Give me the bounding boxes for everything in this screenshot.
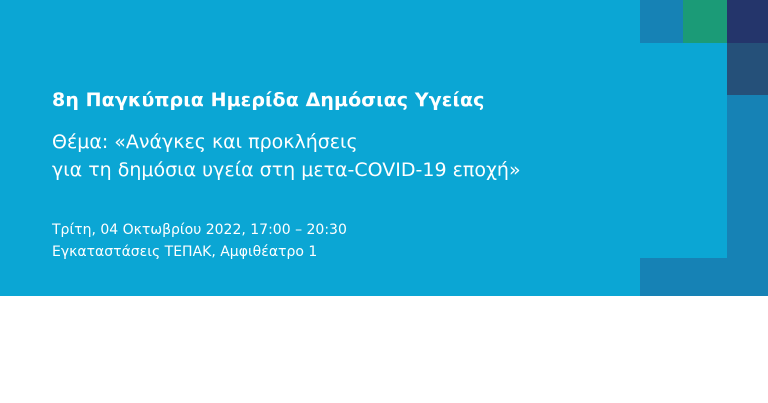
decor-block-slate [727,43,768,95]
event-datetime: Τρίτη, 04 Οκτωβρίου 2022, 17:00 – 20:30 [52,219,347,241]
event-theme-line-2: για τη δημόσια υγεία στη μετα-COVID-19 ε… [52,156,521,184]
event-venue: Εγκαταστάσεις ΤΕΠΑΚ, Αμφιθέατρο 1 [52,241,347,263]
decor-block-teal-blue [640,0,683,43]
decor-block-bottom-right [640,258,768,296]
footer-logo-bar: Τεχνολογικό Πανεπιστήμιο Κύπρου Διεθνές … [0,296,768,403]
event-details: Τρίτη, 04 Οκτωβρίου 2022, 17:00 – 20:30 … [52,219,347,263]
event-title: 8η Παγκύπρια Ημερίδα Δημόσιας Υγείας [52,89,484,111]
event-theme: Θέμα: «Ανάγκες και προκλήσεις για τη δημ… [52,128,521,184]
event-theme-line-1: Θέμα: «Ανάγκες και προκλήσεις [52,128,521,156]
event-poster: 8η Παγκύπρια Ημερίδα Δημόσιας Υγείας Θέμ… [0,0,768,403]
decor-block-green [683,0,727,43]
decor-block-navy [727,0,768,43]
